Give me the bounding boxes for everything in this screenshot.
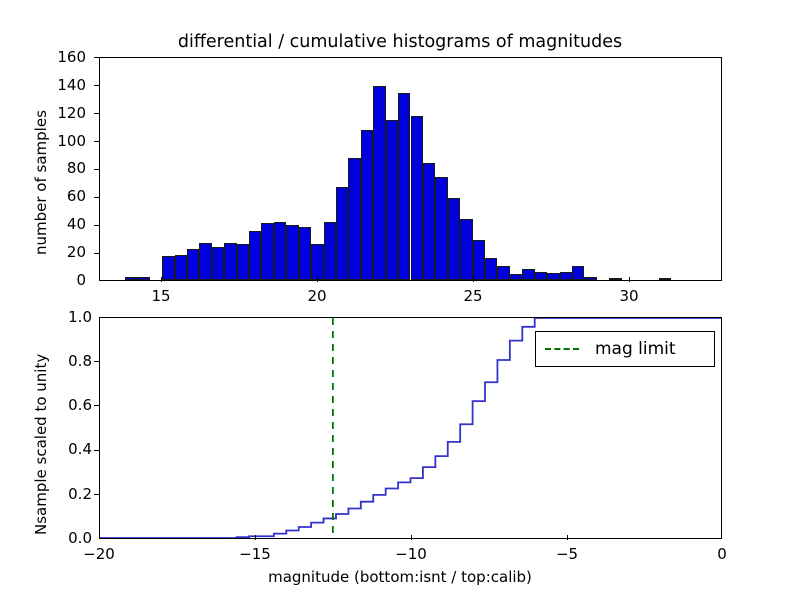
- histogram-bar: [336, 187, 348, 280]
- histogram-bar: [398, 93, 410, 280]
- histogram-bar: [373, 86, 385, 280]
- top-ytickmark-20: [94, 253, 99, 254]
- top-ytickmark-40: [94, 225, 99, 226]
- histogram-bar: [237, 244, 249, 280]
- histogram-bar: [187, 249, 199, 280]
- histogram-bar: [572, 266, 584, 280]
- top-ytick-80: 80: [40, 159, 86, 177]
- bottom-ytick-0p2: 0.2: [40, 485, 92, 503]
- histogram-bar: [497, 266, 509, 280]
- histogram-bar: [299, 227, 311, 280]
- top-ytickmark-100: [94, 141, 99, 142]
- bottom-xtick-0: 0: [717, 545, 727, 563]
- top-ytick-100: 100: [40, 132, 86, 150]
- histogram-bar: [522, 269, 534, 280]
- histogram-bar: [361, 130, 373, 280]
- mag-limit-dash-icon: [545, 348, 579, 350]
- top-ytickmark-60: [94, 197, 99, 198]
- histogram-bar: [175, 255, 187, 280]
- top-ytick-60: 60: [40, 187, 86, 205]
- histogram-bar: [348, 158, 360, 280]
- histogram-bar: [510, 274, 522, 280]
- histogram-bars: [100, 58, 721, 280]
- top-ytickmark-140: [94, 85, 99, 86]
- histogram-bar: [485, 258, 497, 280]
- top-xtickmark-30: [629, 277, 630, 282]
- top-ytick-20: 20: [40, 243, 86, 261]
- bottom-xlabel: magnitude (bottom:isnt / top:calib): [0, 568, 800, 586]
- histogram-bar: [162, 256, 174, 280]
- bottom-ytickmark-0p8: [94, 361, 99, 362]
- bottom-ytick-0p6: 0.6: [40, 396, 92, 414]
- top-xtick-20: 20: [307, 287, 326, 305]
- top-axes: [99, 57, 722, 281]
- histogram-bar: [125, 277, 137, 280]
- histogram-bar: [411, 116, 423, 280]
- bottom-ytickmark-0p2: [94, 494, 99, 495]
- histogram-bar: [212, 247, 224, 280]
- top-xtick-15: 15: [151, 287, 170, 305]
- histogram-bar: [386, 120, 398, 280]
- histogram-bar: [460, 219, 472, 280]
- top-ytick-0: 0: [40, 271, 86, 289]
- bottom-ytick-0p8: 0.8: [40, 352, 92, 370]
- bottom-ytick-0p4: 0.4: [40, 440, 92, 458]
- legend-label-mag-limit: mag limit: [595, 339, 676, 359]
- page-title: differential / cumulative histograms of …: [0, 32, 800, 52]
- top-xtickmark-25: [473, 277, 474, 282]
- bottom-xtickmark-m10: [411, 535, 412, 540]
- top-ytickmark-160: [94, 57, 99, 58]
- histogram-bar: [137, 277, 149, 280]
- top-ytickmark-80: [94, 169, 99, 170]
- histogram-bar: [324, 222, 336, 280]
- histogram-bar: [448, 198, 460, 280]
- histogram-bar: [224, 243, 236, 280]
- histogram-bar: [261, 223, 273, 280]
- bottom-xtick-m20: −20: [83, 545, 115, 563]
- histogram-bar: [311, 244, 323, 280]
- bottom-xtick-m5: −5: [556, 545, 578, 563]
- histogram-bar: [584, 277, 596, 280]
- top-xtick-25: 25: [463, 287, 482, 305]
- histogram-bar: [547, 273, 559, 280]
- legend[interactable]: mag limit: [535, 331, 715, 367]
- bottom-xtick-m15: −15: [239, 545, 271, 563]
- top-ytick-160: 160: [40, 48, 86, 66]
- bottom-xtickmark-m15: [255, 535, 256, 540]
- histogram-bar: [199, 243, 211, 280]
- bottom-ytick-1p0: 1.0: [40, 308, 92, 326]
- histogram-bar: [659, 278, 671, 280]
- top-ytickmark-120: [94, 113, 99, 114]
- histogram-bar: [423, 163, 435, 280]
- top-ytick-140: 140: [40, 76, 86, 94]
- bottom-ytickmark-0p6: [94, 405, 99, 406]
- histogram-bar: [249, 231, 261, 280]
- histogram-bar: [274, 222, 286, 280]
- histogram-bar: [286, 225, 298, 281]
- top-ytick-120: 120: [40, 104, 86, 122]
- figure: differential / cumulative histograms of …: [0, 0, 800, 600]
- top-xtick-30: 30: [619, 287, 638, 305]
- bottom-xtickmark-m5: [567, 535, 568, 540]
- top-xtickmark-20: [317, 277, 318, 282]
- histogram-bar: [609, 278, 621, 280]
- histogram-bar: [560, 272, 572, 280]
- histogram-bar: [473, 240, 485, 280]
- histogram-bar: [435, 177, 447, 280]
- bottom-xtick-m10: −10: [395, 545, 427, 563]
- histogram-bar: [535, 272, 547, 280]
- top-ytick-40: 40: [40, 215, 86, 233]
- top-xtickmark-15: [161, 277, 162, 282]
- bottom-ytickmark-0p4: [94, 450, 99, 451]
